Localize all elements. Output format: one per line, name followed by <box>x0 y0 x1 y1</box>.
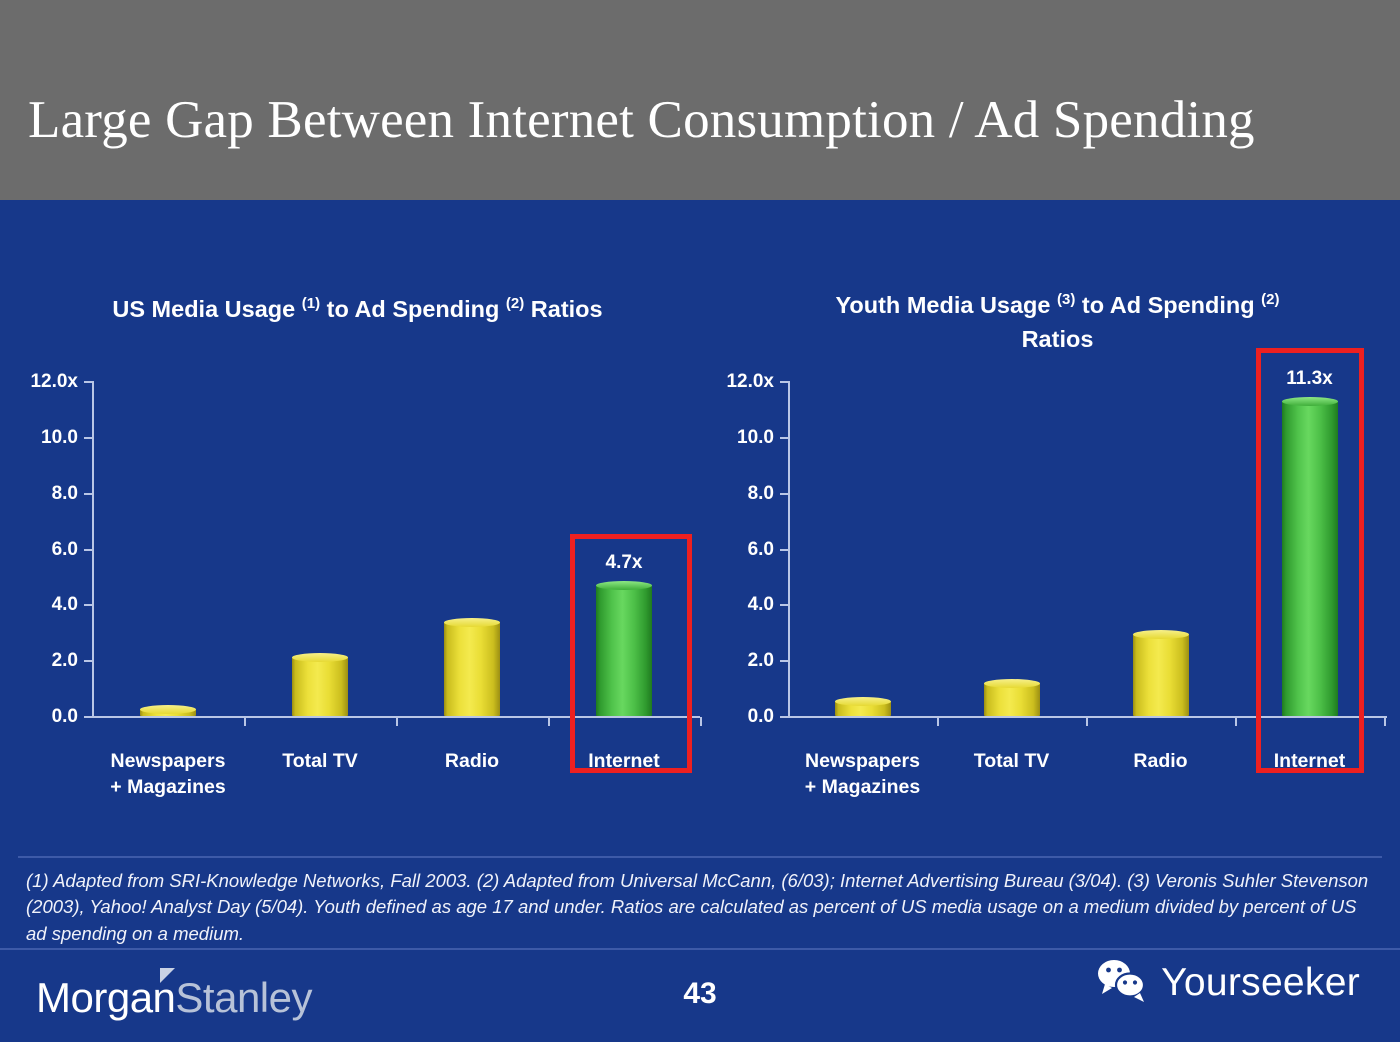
x-axis-tick <box>244 717 246 726</box>
x-axis-tick <box>1384 717 1386 726</box>
y-axis-tick <box>780 437 789 439</box>
y-axis-tick <box>84 437 93 439</box>
page-title: Large Gap Between Internet Consumption /… <box>28 90 1255 150</box>
y-axis-tick <box>84 549 93 551</box>
y-axis-label: 8.0 <box>690 483 774 505</box>
bar-newspapers-magazines <box>140 709 196 716</box>
highlight-box-internet <box>570 534 692 773</box>
bar-top-ellipse <box>140 705 196 714</box>
y-axis-tick <box>84 493 93 495</box>
bar-radio <box>1133 634 1189 716</box>
y-axis-label: 8.0 <box>0 483 78 505</box>
y-axis-label: 4.0 <box>0 594 78 616</box>
y-axis-tick <box>780 549 789 551</box>
chart-panel-youth-media: Youth Media Usage (3) to Ad Spending (2)… <box>715 200 1400 840</box>
footnote-divider <box>18 856 1382 858</box>
y-axis-label: 2.0 <box>0 650 78 672</box>
y-axis-label: 12.0x <box>0 371 78 393</box>
y-axis-tick <box>780 493 789 495</box>
y-axis-label: 12.0x <box>690 371 774 393</box>
bar-radio <box>444 622 500 716</box>
y-axis-label: 6.0 <box>0 539 78 561</box>
y-axis-tick <box>84 381 93 383</box>
bar-total-tv <box>292 657 348 716</box>
x-axis-tick <box>396 717 398 726</box>
y-axis-label: 2.0 <box>690 650 774 672</box>
bar-newspapers-magazines <box>835 701 891 716</box>
plot-area-youth-media: 0.02.04.06.08.010.012.0xNewspapers+ Maga… <box>715 200 1400 840</box>
x-axis-tick <box>937 717 939 726</box>
highlight-box-internet <box>1256 348 1364 773</box>
bar-top-ellipse <box>1133 630 1189 639</box>
slide-header: Large Gap Between Internet Consumption /… <box>0 0 1400 200</box>
y-axis-tick <box>84 716 93 718</box>
bar-top-ellipse <box>984 679 1040 688</box>
x-axis-tick <box>1086 717 1088 726</box>
slide: Large Gap Between Internet Consumption /… <box>0 0 1400 1042</box>
y-axis-tick <box>780 660 789 662</box>
plot-area-us-media: 0.02.04.06.08.010.012.0xNewspapers+ Maga… <box>0 200 715 840</box>
wechat-icon <box>1095 958 1149 1007</box>
y-axis-label: 4.0 <box>690 594 774 616</box>
y-axis-label: 10.0 <box>0 427 78 449</box>
y-axis-label: 0.0 <box>690 706 774 728</box>
y-axis-label: 10.0 <box>690 427 774 449</box>
y-axis-tick <box>84 604 93 606</box>
y-axis-label: 6.0 <box>690 539 774 561</box>
x-axis-tick <box>548 717 550 726</box>
chart-panel-us-media: US Media Usage (1) to Ad Spending (2) Ra… <box>0 200 715 840</box>
y-axis-tick <box>780 716 789 718</box>
y-axis-tick <box>780 604 789 606</box>
x-axis-category-line: + Magazines <box>753 774 973 800</box>
x-axis-category-line: + Magazines <box>58 774 278 800</box>
footnote-text: (1) Adapted from SRI-Knowledge Networks,… <box>26 868 1378 947</box>
x-axis-tick <box>1235 717 1237 726</box>
bar-total-tv <box>984 683 1040 717</box>
y-axis-tick <box>84 660 93 662</box>
y-axis-tick <box>780 381 789 383</box>
brand-name: Yourseeker <box>1161 961 1360 1005</box>
bar-top-ellipse <box>835 697 891 706</box>
bar-top-ellipse <box>444 618 500 627</box>
brand-watermark: Yourseeker <box>1095 958 1360 1007</box>
footer-divider <box>0 948 1400 950</box>
y-axis-label: 0.0 <box>0 706 78 728</box>
bar-top-ellipse <box>292 653 348 662</box>
